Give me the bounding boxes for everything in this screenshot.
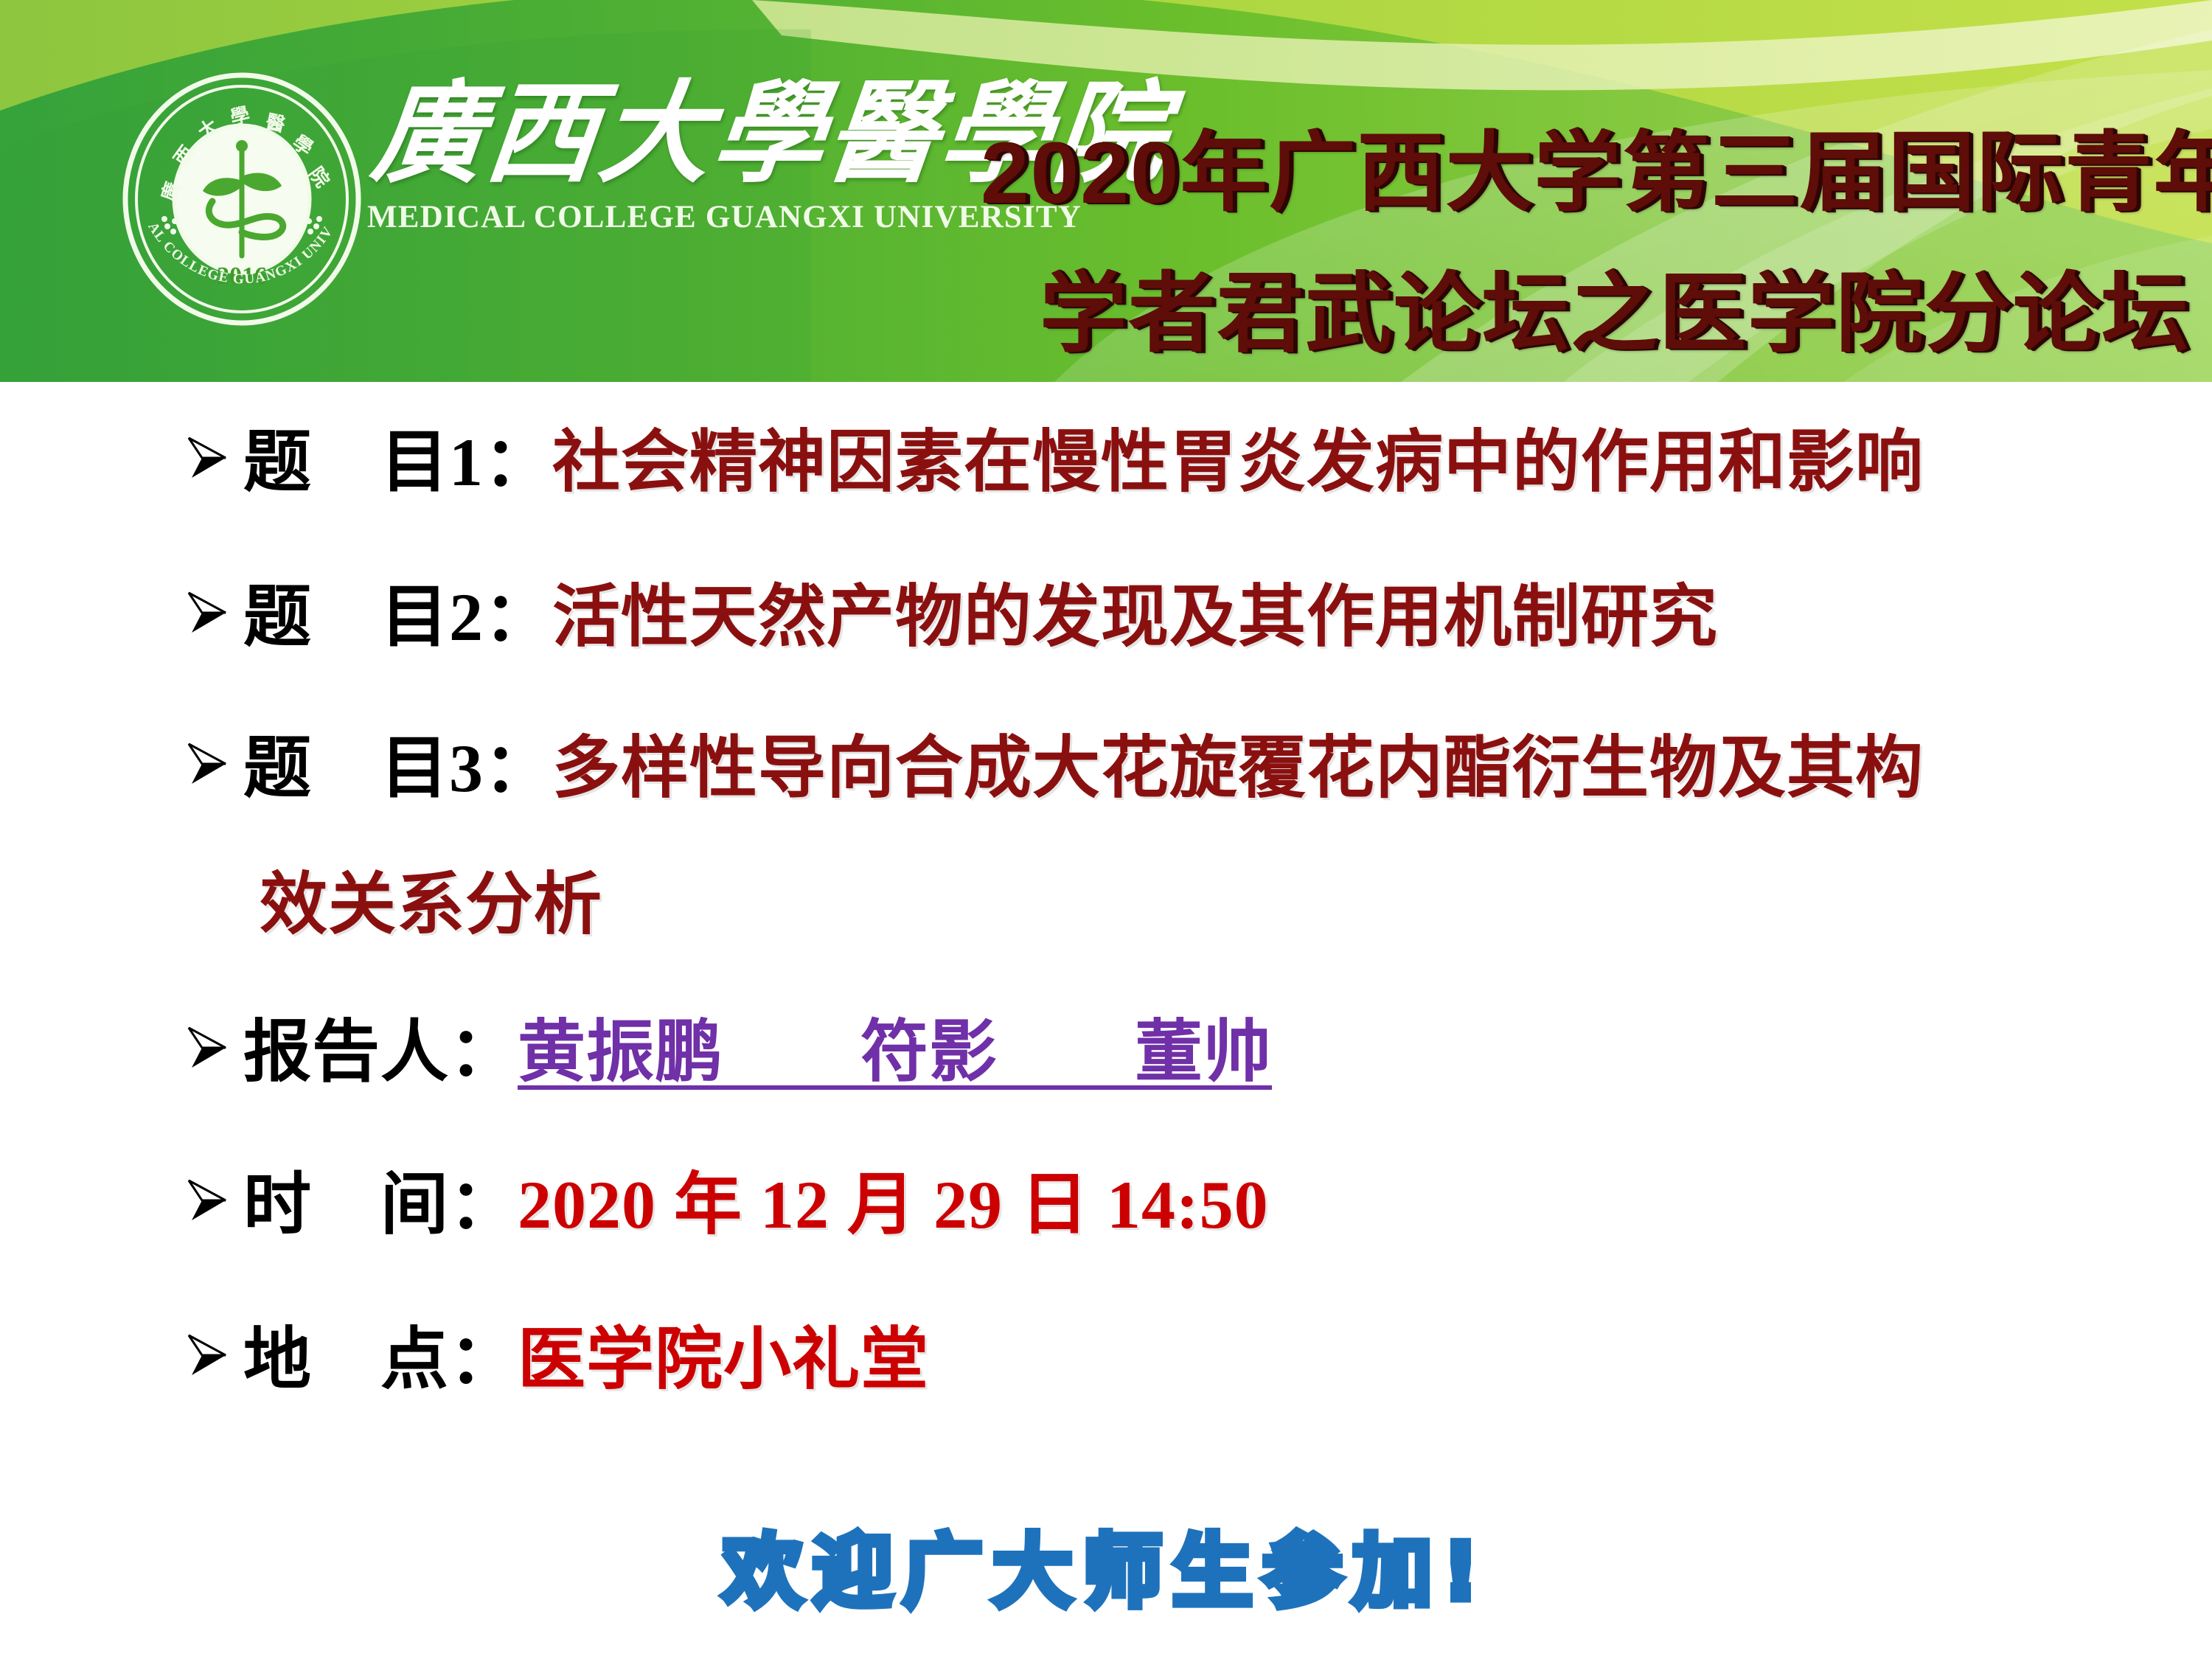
topic-1-value: 社会精神因素在慢性胃炎发病中的作用和影响 xyxy=(552,422,1924,503)
school-name-cn: 廣西大學醫學院 xyxy=(367,80,991,190)
topic-1-label: 题 目1： xyxy=(243,422,552,503)
list-item-topic-3: 题 目3： 多样性导向合成大花旋覆花内酯衍生物及其构 xyxy=(184,728,1924,809)
arrowhead-bullet-icon xyxy=(184,1025,243,1072)
school-name-block: 廣西大學醫學院 MEDICAL COLLEGE GUANGXI UNIVERSI… xyxy=(367,80,979,264)
topic-3-value: 多样性导向合成大花旋覆花内酯衍生物及其构 xyxy=(552,728,1924,809)
event-title: 2020年广西大学第三届国际青年 学者君武论坛之医学院分论坛 xyxy=(981,103,2190,382)
welcome-message: 欢迎广大师生参加! xyxy=(0,1508,2212,1623)
medical-seal-icon: 2016 廣 西 大 學 醫 學 院 MEDICAL COLLEGE G xyxy=(120,70,364,328)
svg-text:學: 學 xyxy=(228,103,251,128)
event-title-line-1: 2020年广西大学第三届国际青年 xyxy=(981,103,2190,244)
slide-body: 题 目1： 社会精神因素在慢性胃炎发病中的作用和影响 题 目2： 活性天然产物的… xyxy=(0,382,2212,1659)
list-item-time: 时 间： 2020 年 12 月 29 日 14:50 xyxy=(184,1165,1269,1245)
list-item-topic-2: 题 目2： 活性天然产物的发现及其作用机制研究 xyxy=(184,577,1718,658)
location-value: 医学院小礼堂 xyxy=(518,1320,929,1400)
time-value: 2020 年 12 月 29 日 14:50 xyxy=(518,1165,1269,1245)
svg-text:醫: 醫 xyxy=(264,111,287,136)
location-label: 地 点： xyxy=(243,1320,518,1400)
topic-2-value: 活性天然产物的发现及其作用机制研究 xyxy=(552,577,1718,658)
topic-3-label: 题 目3： xyxy=(243,728,552,809)
list-item-speakers: 报告人： 黄振鹏 符影 董帅 xyxy=(184,1012,1272,1093)
list-item-topic-1: 题 目1： 社会精神因素在慢性胃炎发病中的作用和影响 xyxy=(184,422,1924,503)
arrowhead-bullet-icon xyxy=(184,741,243,788)
speakers-label: 报告人： xyxy=(243,1012,518,1093)
topic-3-continuation: 效关系分析 xyxy=(260,865,602,945)
arrowhead-bullet-icon xyxy=(184,435,243,482)
list-item-location: 地 点： 医学院小礼堂 xyxy=(184,1320,929,1400)
school-name-en: MEDICAL COLLEGE GUANGXI UNIVERSITY xyxy=(367,199,979,235)
arrowhead-bullet-icon xyxy=(184,1332,243,1380)
arrowhead-bullet-icon xyxy=(184,590,243,637)
time-label: 时 间： xyxy=(243,1165,518,1245)
topic-2-label: 题 目2： xyxy=(243,577,552,658)
arrowhead-bullet-icon xyxy=(184,1178,243,1225)
header-banner: 2016 廣 西 大 學 醫 學 院 MEDICAL COLLEGE G xyxy=(0,0,2212,382)
speakers-value: 黄振鹏 符影 董帅 xyxy=(518,1012,1272,1093)
event-title-line-2: 学者君武论坛之医学院分论坛 xyxy=(981,244,2190,382)
